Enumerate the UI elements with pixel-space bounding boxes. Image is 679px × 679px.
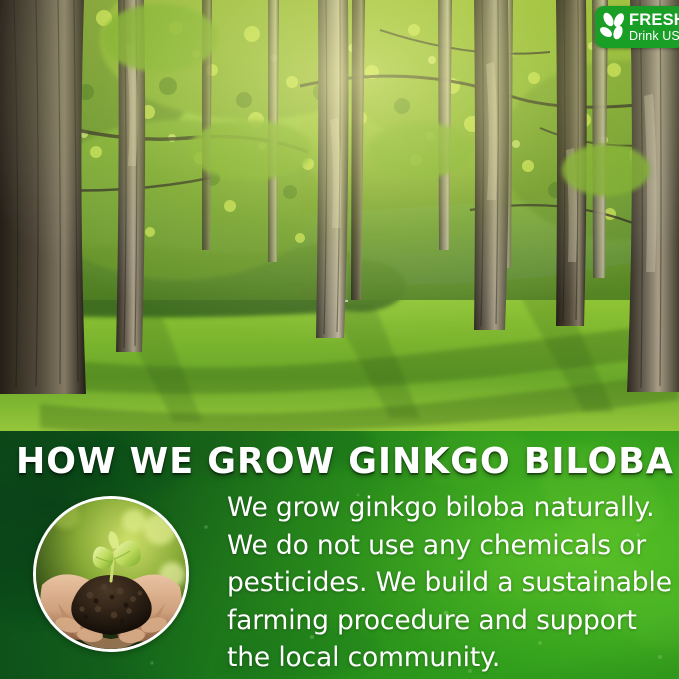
- seedling-illustration: [36, 499, 186, 649]
- panel-body-text: We grow ginkgo biloba naturally. We do n…: [227, 489, 679, 677]
- brand-wordmark: FRESH Drink US: [629, 12, 679, 43]
- forest-meadow-photo: [0, 0, 679, 431]
- forest-scene-illustration: [0, 0, 679, 431]
- panel-headline: HOW WE GROW GINKGO BILOBA: [16, 444, 656, 480]
- brand-name-secondary: Drink US: [629, 30, 679, 43]
- hands-holding-seedling-photo: [33, 496, 189, 652]
- brand-name-primary: FRESH: [629, 12, 679, 29]
- leaf-cluster-icon: [598, 10, 628, 44]
- brand-logo-badge: FRESH Drink US: [595, 6, 679, 48]
- product-image-card: FRESH Drink US: [0, 0, 679, 679]
